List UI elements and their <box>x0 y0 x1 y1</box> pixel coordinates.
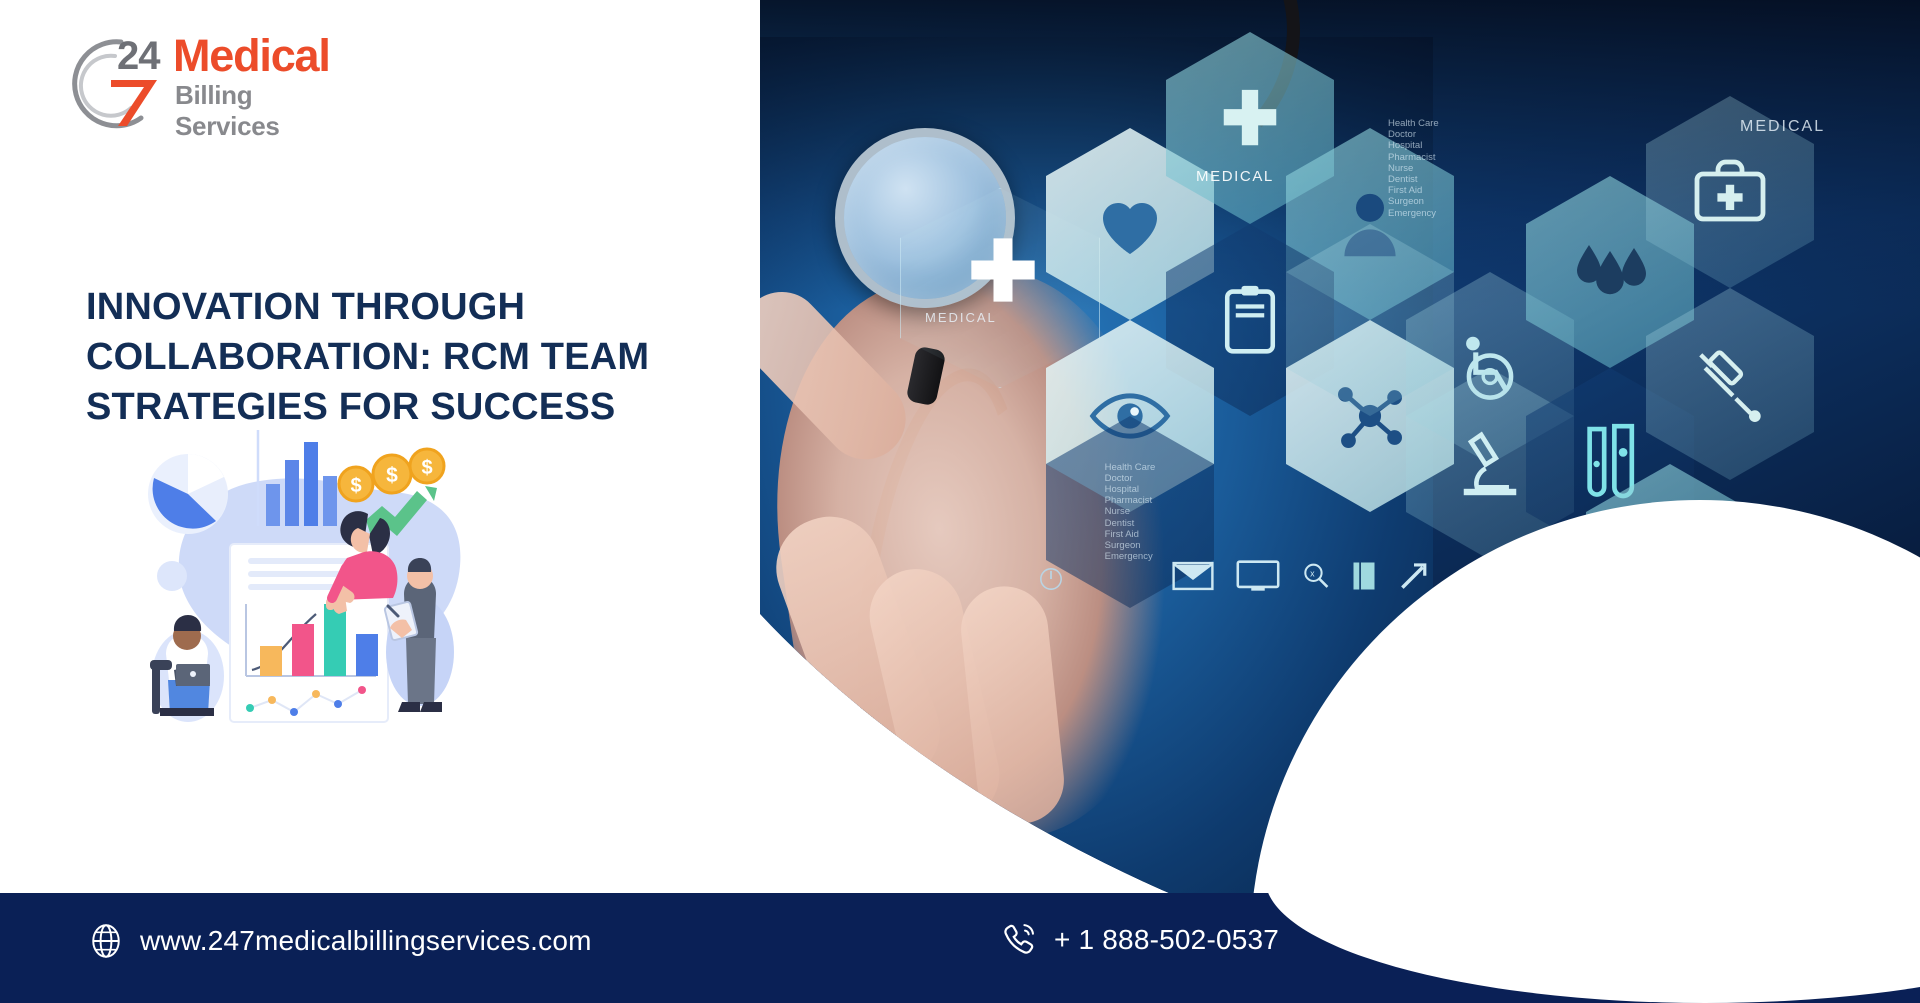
bar-chart-small <box>258 430 337 526</box>
hud-tray-icons: x <box>1172 560 1430 592</box>
heart-icon <box>1094 191 1166 257</box>
svg-text:x: x <box>1310 568 1315 578</box>
logo-seven-icon <box>107 74 175 128</box>
company-logo[interactable]: 24 Medical Billing Services <box>55 28 355 128</box>
bar-blue <box>356 634 378 676</box>
monitor-icon <box>1236 560 1280 592</box>
medical-cross-icon <box>1215 84 1285 154</box>
clipboard-icon <box>1220 283 1280 357</box>
globe-icon <box>88 923 124 959</box>
syringe-icon <box>1692 346 1768 422</box>
footer-phone[interactable]: + 1 888-502-0537 <box>1000 921 1279 959</box>
logo-word-medical: Medical <box>173 30 330 82</box>
arrow-icon <box>1398 560 1430 592</box>
marketing-banner: MEDICAL MEDICAL <box>0 0 1920 1003</box>
business-analytics-illustration: $ $ $ <box>130 408 480 738</box>
hex-label-medical-left: MEDICAL <box>925 310 997 325</box>
bar-teal <box>324 604 346 676</box>
service-list: Health Care Doctor Hospital Pharmacist N… <box>1105 462 1156 563</box>
blood-drop-icon <box>1565 239 1655 305</box>
first-aid-kit-icon <box>1691 159 1769 225</box>
microscope-icon <box>1455 429 1525 499</box>
service-list-top-right: Health Care Doctor Hospital Pharmacist N… <box>1388 118 1439 219</box>
bar-orange <box>260 646 282 676</box>
mail-icon <box>1172 561 1214 591</box>
logo-number-24: 24 <box>117 34 160 79</box>
svg-text:$: $ <box>421 457 432 479</box>
phone-ring-icon <box>1000 921 1038 959</box>
svg-text:$: $ <box>350 475 361 497</box>
svg-text:$: $ <box>386 464 398 487</box>
bar-pink <box>292 624 314 676</box>
book-icon <box>1352 560 1376 592</box>
medical-cross-icon-left <box>965 232 1041 313</box>
hex-label-medical-right: MEDICAL <box>1740 118 1825 136</box>
footer-website[interactable]: www.247medicalbillingservices.com <box>88 923 592 959</box>
pie-chart <box>148 454 228 534</box>
power-icon <box>1038 566 1064 597</box>
footer-bar: www.247medicalbillingservices.com + 1 88… <box>0 893 1920 1003</box>
website-url: www.247medicalbillingservices.com <box>140 925 592 957</box>
search-icon: x <box>1302 562 1330 590</box>
phone-number: + 1 888-502-0537 <box>1054 924 1279 956</box>
deco-circle <box>157 561 187 591</box>
logo-tagline: Billing Services <box>175 80 355 142</box>
